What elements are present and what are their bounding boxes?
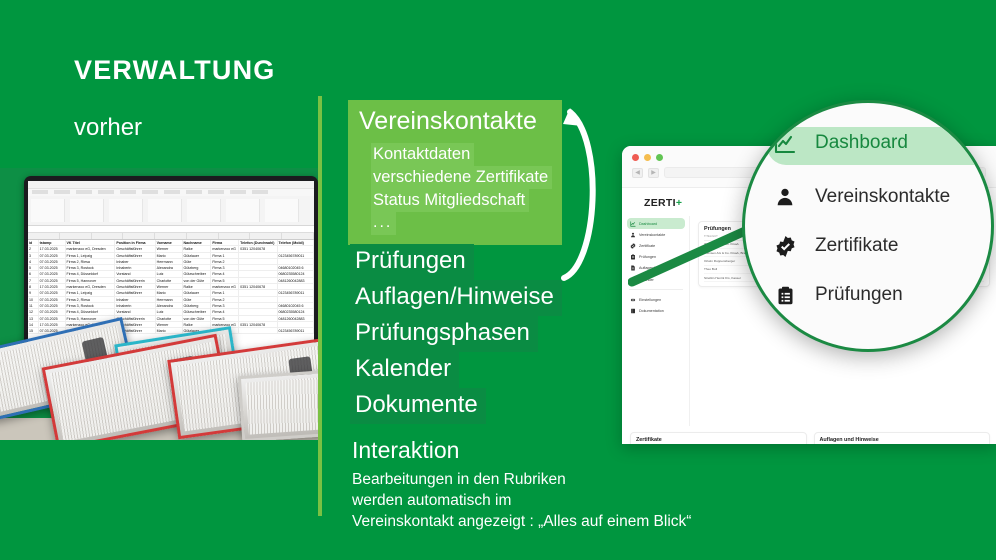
page-title: VERWALTUNG	[74, 55, 276, 86]
excel-ribbon	[28, 196, 314, 226]
spreadsheet-cell	[278, 246, 314, 251]
spreadsheet-cell: 07.03.2025	[39, 278, 66, 283]
spreadsheet-cell: Firma 1	[211, 290, 239, 295]
spreadsheet-cell: 0680235580124	[278, 271, 314, 276]
spreadsheet-cell: Werner	[156, 246, 183, 251]
spreadsheet-cell	[239, 303, 277, 308]
spreadsheet-cell: 07.03.2025	[39, 259, 66, 264]
spreadsheet-cell: 07.03.2025	[39, 271, 66, 276]
spreadsheet-cell: 8	[28, 284, 39, 289]
spreadsheet-cell: 07.03.2025	[39, 290, 66, 295]
spreadsheet-cell	[278, 259, 314, 264]
maximize-icon[interactable]	[656, 154, 663, 161]
spreadsheet-cell: 9	[28, 290, 39, 295]
section-divider	[318, 96, 322, 516]
spreadsheet-cell: Firma 1, Leipzig	[66, 290, 116, 295]
slide-canvas: VERWALTUNG vorher	[0, 0, 996, 560]
spreadsheet-cell: Geschäftsführer	[115, 284, 155, 289]
clipboard-icon	[773, 283, 797, 307]
spreadsheet-cell: Firma 5, Hannover	[66, 278, 116, 283]
spreadsheet-cell	[239, 259, 277, 264]
spreadsheet-cell: markenzoo eG, Dresden	[66, 246, 116, 251]
spreadsheet-cell: Firma 1	[211, 253, 239, 258]
magnifier-item-label: Vereinskontakte	[815, 186, 950, 208]
spreadsheet-cell	[239, 290, 277, 295]
spreadsheet-cell: Charlotte	[156, 278, 183, 283]
spreadsheet-cell: Firma 4	[211, 309, 239, 314]
spreadsheet-cell: Geschäftsführerin	[115, 278, 155, 283]
spreadsheet-cell: Gützberg	[183, 265, 212, 270]
spreadsheet-cell: markenzoo eG, Dresden	[66, 284, 116, 289]
spreadsheet-cell: Herrmann	[156, 297, 183, 302]
spreadsheet-cell: Gützschreiber	[183, 271, 212, 276]
interaktion-lines: Bearbeitungen in den Rubrikenwerden auto…	[352, 469, 691, 532]
magnifier-item-label: Prüfungen	[815, 284, 903, 306]
binder	[238, 368, 318, 440]
interaktion-line: werden automatisch im	[352, 490, 691, 511]
spreadsheet-cell	[239, 309, 277, 314]
spreadsheet-cell: Güte	[183, 297, 212, 302]
spreadsheet-cell: von der Güte	[183, 278, 212, 283]
vereinskontakte-item: ...	[371, 212, 396, 235]
vereinskontakte-title: Vereinskontakte	[356, 104, 542, 139]
magnifier-item-vereinskontakte[interactable]: Vereinskontakte	[773, 185, 950, 209]
spreadsheet-cell: 5	[28, 265, 39, 270]
rubrik-item: Auflagen/Hinweise	[350, 280, 562, 316]
magnifier-circle: Dashboard Vereinskontakte Zertifikate	[742, 100, 994, 352]
spreadsheet-cell: Charlotte	[156, 316, 183, 321]
spreadsheet-cell: 6	[28, 271, 39, 276]
spreadsheet-cell: Firma 3, Rostock	[66, 265, 116, 270]
spreadsheet-cell: 17.03.2025	[39, 284, 66, 289]
vereinskontakte-block: Vereinskontakte Kontaktdatenverschiedene…	[348, 100, 562, 245]
spreadsheet-cell: Geschäftsführer	[115, 290, 155, 295]
interaktion-line: Vereinskontakt angezeigt : „Alles auf ei…	[352, 511, 691, 532]
excel-titlebar	[28, 181, 314, 189]
spreadsheet-cell: 4	[28, 259, 39, 264]
spreadsheet-cell: 10	[28, 297, 39, 302]
spreadsheet-cell: 07.03.2025	[39, 297, 66, 302]
spreadsheet-cell: Inhaber	[115, 297, 155, 302]
vereinskontakte-item: Status Mitgliedschaft	[371, 189, 529, 212]
spreadsheet-cell: 0680235580124	[278, 309, 314, 314]
spreadsheet-cell: 15	[28, 328, 39, 333]
spreadsheet-cell: Firma 2	[211, 259, 239, 264]
excel-column-headers	[28, 233, 314, 240]
spreadsheet-column-header: VK Titel	[66, 240, 116, 245]
spreadsheet-cell	[239, 297, 277, 302]
spreadsheet-cell: 17.03.2025	[39, 246, 66, 251]
magnifier-item-dashboard[interactable]: Dashboard	[773, 131, 908, 155]
hinweise-panel: Auflagen und Hinweise HINWEIS Gütezeiche…	[814, 432, 991, 444]
sidebar-divider	[629, 289, 683, 290]
spreadsheet-cell: 0123456789011	[278, 290, 314, 295]
spreadsheet-cell: Mario	[156, 253, 183, 258]
spreadsheet-cell: Ralke	[183, 246, 212, 251]
spreadsheet-cell: Alexandra	[156, 303, 183, 308]
spreadsheet-cell: Firma 2, Riesa	[66, 259, 116, 264]
spreadsheet-column-header: Telefon (Durchwahl)	[239, 240, 277, 245]
sidebar-item-label: Einstellungen	[639, 298, 661, 302]
rubrik-item: Prüfungsphasen	[350, 316, 538, 352]
spreadsheet-column-header: Telefon (Mobil)	[278, 240, 314, 245]
badge-check-icon	[773, 234, 797, 258]
spreadsheet-cell	[239, 253, 277, 258]
spreadsheet-cell: Firma 4	[211, 271, 239, 276]
interaktion-block: Interaktion Bearbeitungen in den Rubrike…	[352, 434, 691, 532]
spreadsheet-cell: 17.03.2025	[39, 322, 66, 327]
sidebar-item-einstellungen[interactable]: Einstellungen	[627, 294, 685, 305]
spreadsheet-cell: Firma 3	[211, 265, 239, 270]
spreadsheet-cell: Lutz	[156, 309, 183, 314]
vereinskontakte-item: verschiedene Zertifikate	[371, 166, 552, 189]
spreadsheet-cell: 07.03.2025	[39, 265, 66, 270]
magnifier-item-label: Zertifikate	[815, 235, 898, 257]
spreadsheet-cell: Vorstand	[115, 271, 155, 276]
rubrik-item: Prüfungen	[350, 244, 474, 280]
panel-title: Auflagen und Hinweise	[820, 437, 985, 443]
spreadsheet-cell: 04680102045 6	[278, 265, 314, 270]
spreadsheet-cell: Mario	[156, 290, 183, 295]
spreadsheet-cell: Inhaber	[115, 259, 155, 264]
spreadsheet-column-header: tstamp	[39, 240, 66, 245]
spreadsheet-cell: 07.03.2025	[39, 316, 66, 321]
spreadsheet-cell: 07.03.2025	[39, 253, 66, 258]
sidebar-item-dokumentation[interactable]: Dokumentation	[627, 305, 685, 316]
magnifier-item-zertifikate[interactable]: Zertifikate	[773, 234, 898, 258]
spreadsheet-cell: 0351 12040678	[239, 284, 277, 289]
spreadsheet-cell: Firma 5	[211, 278, 239, 283]
spreadsheet-cell	[239, 278, 277, 283]
spreadsheet-cell: Herrmann	[156, 259, 183, 264]
spreadsheet-column-header: Position in Firma	[115, 240, 155, 245]
interaktion-line: Bearbeitungen in den Rubriken	[352, 469, 691, 490]
spreadsheet-cell: Werner	[156, 322, 183, 327]
spreadsheet-cell: Firma 4, Düsseldorf	[66, 271, 116, 276]
spreadsheet-cell: 04680102045 6	[278, 303, 314, 308]
rubriken-block: PrüfungenAuflagen/HinweisePrüfungsphasen…	[350, 244, 562, 424]
spreadsheet-cell: Firma 2, Riesa	[66, 297, 116, 302]
close-icon[interactable]	[632, 154, 639, 161]
book-icon	[630, 308, 636, 314]
photo-laptop-binders: idtstampVK TitelPosition in FirmaVorname…	[0, 168, 318, 440]
spreadsheet-cell: 0123456789011	[278, 328, 314, 333]
spreadsheet-cell: Gützberg	[183, 303, 212, 308]
lower-panels: Zertifikate TITEL Gütezeichen Landschaft…	[622, 426, 996, 444]
rubrik-item: Dokumente	[350, 388, 486, 424]
spreadsheet-cell: 0351 12040678	[239, 322, 277, 327]
rubrik-item: Kalender	[350, 352, 459, 388]
zertifikate-panel: Zertifikate TITEL Gütezeichen Landschaft…	[630, 432, 807, 444]
spreadsheet-cell: 13	[28, 316, 39, 321]
vereinskontakte-item-list: Kontaktdatenverschiedene ZertifikateStat…	[356, 143, 552, 235]
spreadsheet-cell: Firma 3, Rostock	[66, 303, 116, 308]
excel-ribbon-tabs	[28, 189, 314, 196]
spreadsheet-cell: von der Güte	[183, 316, 212, 321]
person-icon	[773, 185, 797, 209]
spreadsheet-cell: 0351 12040678	[239, 246, 277, 251]
spreadsheet-cell	[239, 271, 277, 276]
spreadsheet-cell: Vorstand	[115, 309, 155, 314]
spreadsheet-cell: Geschäftsführer	[115, 246, 155, 251]
spreadsheet-cell: Firma 5	[211, 316, 239, 321]
spreadsheet-cell: 7	[28, 278, 39, 283]
spreadsheet-cell: Geschäftsführer	[115, 253, 155, 258]
spreadsheet-cell: Werner	[156, 284, 183, 289]
spreadsheet-cell: Güte	[183, 259, 212, 264]
spreadsheet-cell: Firma 4, Düsseldorf	[66, 309, 116, 314]
curved-arrow-icon	[552, 96, 612, 286]
spreadsheet-cell: markenzoo eG	[211, 284, 239, 289]
spreadsheet-column-header: Firma	[211, 240, 239, 245]
magnifier-item-pruefungen[interactable]: Prüfungen	[773, 283, 903, 307]
spreadsheet-cell: 14	[28, 322, 39, 327]
spreadsheet-cell: 0481260042883	[278, 278, 314, 283]
spreadsheet-cell: Mario	[156, 328, 183, 333]
forward-icon[interactable]: ▶	[648, 168, 659, 178]
spreadsheet-cell: 07.03.2025	[39, 303, 66, 308]
chart-line-icon	[773, 131, 797, 155]
sidebar-item-label: Dokumentation	[639, 309, 664, 313]
vereinskontakte-item: Kontaktdaten	[371, 143, 474, 166]
spreadsheet-cell: Firma 2	[211, 297, 239, 302]
spreadsheet-cell: 2	[28, 246, 39, 251]
spreadsheet-cell	[239, 316, 277, 321]
spreadsheet-cell: 0481260042883	[278, 316, 314, 321]
excel-formula-bar	[28, 226, 314, 233]
spreadsheet-cell: Lutz	[156, 271, 183, 276]
spreadsheet-column-header: id	[28, 240, 39, 245]
spreadsheet-cell: 07.03.2025	[39, 309, 66, 314]
spreadsheet-cell: Gützlauer	[183, 290, 212, 295]
spreadsheet-cell: Firma 1, Leipzig	[66, 253, 116, 258]
minimize-icon[interactable]	[644, 154, 651, 161]
spreadsheet-cell: Alexandra	[156, 265, 183, 270]
spreadsheet-cell: 3	[28, 253, 39, 258]
spreadsheet-cell: Inhaberin	[115, 265, 155, 270]
spreadsheet-cell: 12	[28, 309, 39, 314]
spreadsheet-cell: 11	[28, 303, 39, 308]
spreadsheet-cell	[278, 322, 314, 327]
spreadsheet-cell	[239, 265, 277, 270]
panel-title: Zertifikate	[636, 437, 801, 443]
spreadsheet-cell: Ralke	[183, 322, 212, 327]
spreadsheet-column-header: Nachname	[183, 240, 212, 245]
spreadsheet-cell	[278, 297, 314, 302]
spreadsheet-cell	[278, 284, 314, 289]
subtitle-vorher: vorher	[74, 114, 142, 142]
magnifier-item-label: Dashboard	[815, 132, 908, 154]
spreadsheet-cell: Ralke	[183, 284, 212, 289]
spreadsheet-cell: Inhaberin	[115, 303, 155, 308]
excel-sheet: idtstampVK TitelPosition in FirmaVorname…	[28, 240, 314, 334]
spreadsheet-cell: Gützlauer	[183, 253, 212, 258]
spreadsheet-cell: markenzoo eG	[211, 246, 239, 251]
back-icon[interactable]: ◀	[632, 168, 643, 178]
spreadsheet-cell: 0123456789011	[278, 253, 314, 258]
gear-icon	[630, 297, 636, 303]
spreadsheet-cell: Firma 3	[211, 303, 239, 308]
spreadsheet-column-header: Vorname	[156, 240, 183, 245]
spreadsheet-cell	[239, 328, 277, 333]
spreadsheet-cell: Gützschreiber	[183, 309, 212, 314]
